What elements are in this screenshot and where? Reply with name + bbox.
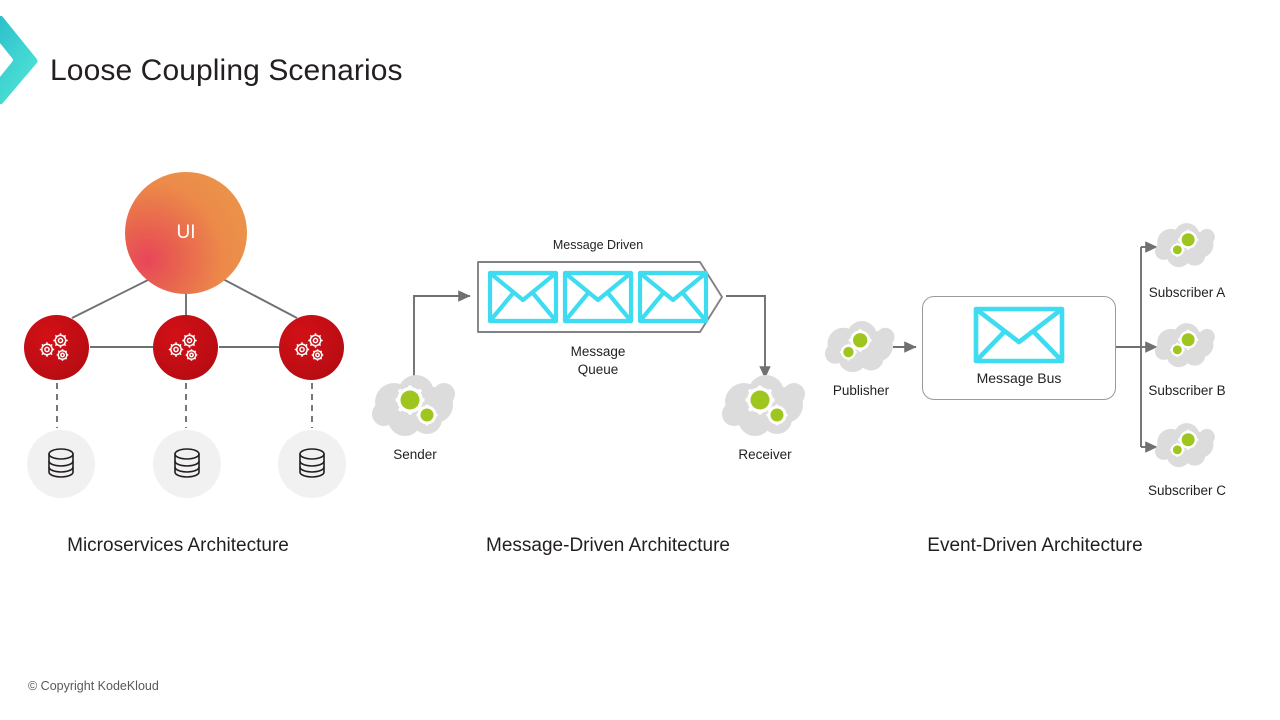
copyright-footer: © Copyright KodeKloud xyxy=(28,679,159,693)
queue-messages xyxy=(487,270,713,325)
sender-label: Sender xyxy=(355,446,475,464)
service-node-1[interactable] xyxy=(24,315,89,380)
cloud-gears-icon[interactable] xyxy=(1155,422,1217,469)
message-queue-label-line2: Queue xyxy=(578,362,619,377)
publisher-label: Publisher xyxy=(805,382,917,400)
page-title: Loose Coupling Scenarios xyxy=(50,54,403,88)
chevron-logo-icon xyxy=(0,14,42,106)
message-driven-label: Message Driven xyxy=(498,237,698,254)
slide-root: Loose Coupling Scenarios xyxy=(0,0,1280,720)
message-bus-label: Message Bus xyxy=(923,370,1115,386)
cloud-gears-icon[interactable] xyxy=(372,374,458,438)
caption-microservices: Microservices Architecture xyxy=(33,535,323,557)
subscriber-a-label: Subscriber A xyxy=(1118,284,1256,302)
envelope-icon xyxy=(640,273,706,321)
receiver-label: Receiver xyxy=(705,446,825,464)
subscriber-c-label: Subscriber C xyxy=(1118,482,1256,500)
cloud-gears-icon[interactable] xyxy=(825,320,897,374)
database-icon xyxy=(296,446,328,482)
subscriber-b-label: Subscriber B xyxy=(1118,382,1256,400)
ui-node-label: UI xyxy=(177,222,196,244)
message-queue-label-line1: Message xyxy=(571,344,626,359)
caption-message-driven: Message-Driven Architecture xyxy=(448,535,768,557)
database-node-2[interactable] xyxy=(153,430,221,498)
database-node-1[interactable] xyxy=(27,430,95,498)
cloud-gears-icon[interactable] xyxy=(1155,322,1217,369)
message-bus-node[interactable]: Message Bus xyxy=(922,296,1116,400)
gears-icon xyxy=(166,331,206,365)
gears-icon xyxy=(37,331,77,365)
envelope-icon xyxy=(490,273,556,321)
cloud-gears-icon[interactable] xyxy=(722,374,808,438)
caption-event-driven: Event-Driven Architecture xyxy=(890,535,1180,557)
message-queue-label: Message Queue xyxy=(518,343,678,379)
envelope-icon xyxy=(565,273,631,321)
ui-node[interactable]: UI xyxy=(125,172,247,294)
envelope-icon xyxy=(973,306,1065,364)
service-node-3[interactable] xyxy=(279,315,344,380)
database-icon xyxy=(171,446,203,482)
cloud-gears-icon[interactable] xyxy=(1155,222,1217,269)
database-icon xyxy=(45,446,77,482)
database-node-3[interactable] xyxy=(278,430,346,498)
service-node-2[interactable] xyxy=(153,315,218,380)
gears-icon xyxy=(292,331,332,365)
